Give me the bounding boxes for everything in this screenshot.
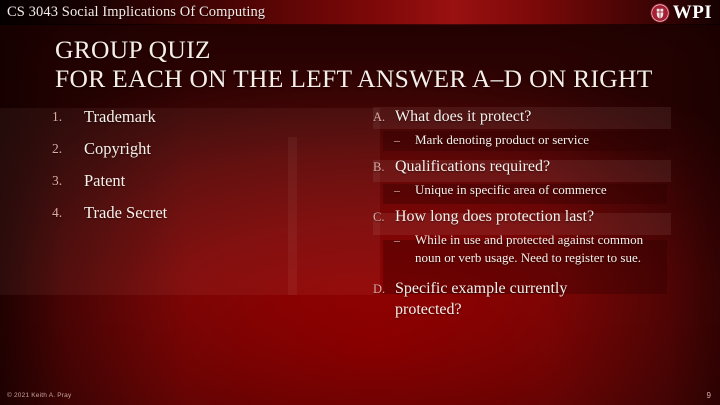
list-item-marker: 1. <box>52 106 84 128</box>
list-item: 4. Trade Secret <box>52 202 317 224</box>
list-item: 1. Trademark <box>52 106 317 128</box>
answer-sub-label: While in use and protected against commo… <box>415 231 661 267</box>
right-list: A. What does it protect? – Mark denoting… <box>373 106 673 322</box>
page-title: GROUP QUIZ FOR EACH ON THE LEFT ANSWER A… <box>55 36 675 93</box>
footer-copyright: © 2021 Keith A. Pray <box>7 391 71 400</box>
answer-sub-item-a: – Mark denoting product or service <box>373 131 673 149</box>
page-title-line-1: GROUP QUIZ <box>55 36 675 65</box>
answer-item-label: Specific example currently protected? <box>395 278 631 320</box>
left-list: 1. Trademark 2. Copyright 3. Patent 4. T… <box>52 106 317 234</box>
list-item-marker: 2. <box>52 138 84 160</box>
list-item-marker: 4. <box>52 202 84 224</box>
list-item: 2. Copyright <box>52 138 317 160</box>
answer-item-label: Qualifications required? <box>395 156 550 177</box>
answer-sub-marker: – <box>373 181 415 199</box>
answer-item-label: What does it protect? <box>395 106 531 127</box>
answer-item-marker: C. <box>373 206 395 228</box>
answer-item-marker: A. <box>373 106 395 128</box>
answer-item-d: D. Specific example currently protected? <box>373 278 673 320</box>
slide-header-bar: CS 3043 Social Implications Of Computing… <box>0 0 720 25</box>
page-title-line-2: FOR EACH ON THE LEFT ANSWER A–D ON RIGHT <box>55 65 675 94</box>
answer-sub-item-c: – While in use and protected against com… <box>373 231 673 267</box>
slide-number: 9 <box>707 391 711 401</box>
wpi-seal-icon <box>650 3 670 23</box>
presentation-slide: CS 3043 Social Implications Of Computing… <box>0 0 720 405</box>
answer-item-b: B. Qualifications required? <box>373 156 673 178</box>
answer-sub-label: Unique in specific area of commerce <box>415 181 607 199</box>
answer-item-a: A. What does it protect? <box>373 106 673 128</box>
list-item-label: Patent <box>84 170 125 192</box>
wpi-wordmark: WPI <box>673 3 712 22</box>
list-item-label: Trademark <box>84 106 156 128</box>
answer-sub-item-b: – Unique in specific area of commerce <box>373 181 673 199</box>
answer-item-marker: B. <box>373 156 395 178</box>
list-item-label: Copyright <box>84 138 151 160</box>
answer-sub-label: Mark denoting product or service <box>415 131 589 149</box>
answer-item-label: How long does protection last? <box>395 206 594 227</box>
answer-item-marker: D. <box>373 278 395 300</box>
list-item-label: Trade Secret <box>84 202 167 224</box>
answer-sub-marker: – <box>373 231 415 249</box>
course-title: CS 3043 Social Implications Of Computing <box>7 2 265 23</box>
answer-item-c: C. How long does protection last? <box>373 206 673 228</box>
answer-sub-marker: – <box>373 131 415 149</box>
list-item-marker: 3. <box>52 170 84 192</box>
wpi-logo: WPI <box>650 1 712 24</box>
list-item: 3. Patent <box>52 170 317 192</box>
